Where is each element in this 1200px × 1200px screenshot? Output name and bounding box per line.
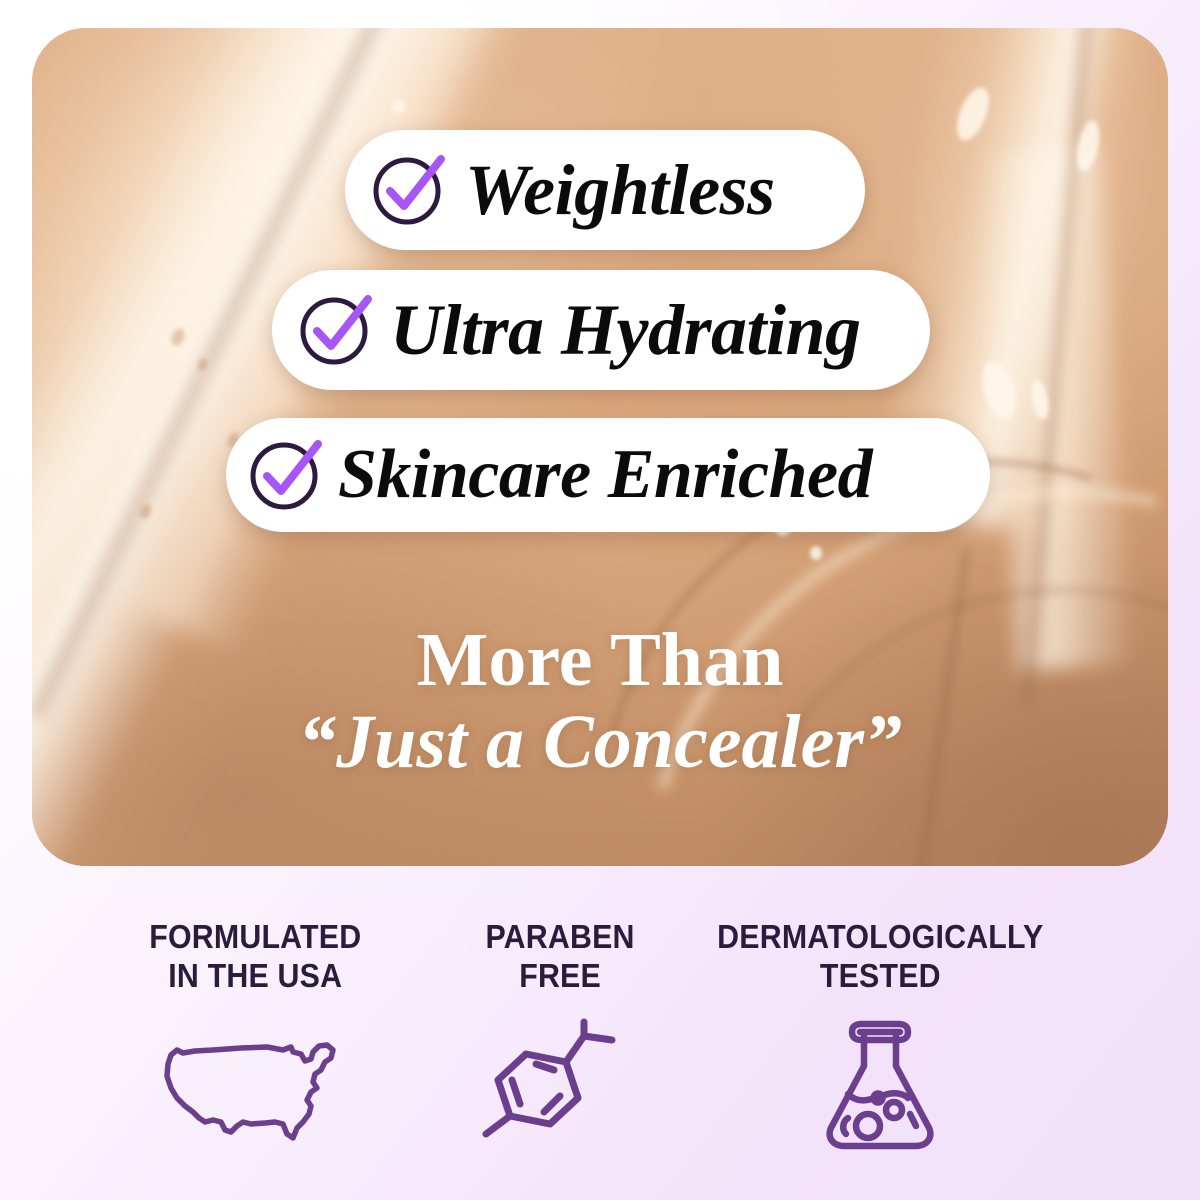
usa-map-icon: [155, 1026, 355, 1159]
claim-badge-paraben-free: PARABEN FREE: [450, 918, 670, 1155]
claim-badge-text: FORMULATED IN THE USA: [149, 918, 361, 996]
lab-flask-icon: [812, 1018, 948, 1163]
claim-badge-line-1: DERMATOLOGICALLY: [717, 918, 1043, 955]
claim-badge-line-2: IN THE USA: [168, 957, 342, 994]
claim-badge-text: PARABEN FREE: [485, 918, 634, 996]
texture-highlight-speck: [810, 546, 822, 560]
claim-badge-formulated-in-usa: FORMULATED IN THE USA: [60, 918, 450, 1159]
benzene-molecule-icon: [480, 1018, 640, 1155]
claim-badge-line-1: PARABEN: [485, 918, 634, 955]
claim-badge-line-2: FREE: [519, 957, 601, 994]
check-circle-icon: [298, 291, 376, 369]
product-feature-graphic: Weightless Ultra Hydrating Skincare Enri…: [0, 0, 1200, 1200]
claim-badge-line-1: FORMULATED: [149, 918, 361, 955]
benefit-pill-weightless[interactable]: Weightless: [345, 130, 865, 250]
benefit-pill-label: Ultra Hydrating: [390, 294, 861, 366]
claim-badge-row: FORMULATED IN THE USA PARABEN FREE: [60, 918, 1140, 1163]
benefit-pill-label: Weightless: [465, 154, 775, 226]
check-circle-icon: [371, 151, 449, 229]
claim-badge-text: DERMATOLOGICALLY TESTED: [717, 918, 1043, 996]
check-circle-icon: [248, 436, 326, 514]
benefit-pill-ultra-hydrating[interactable]: Ultra Hydrating: [272, 270, 930, 390]
texture-highlight-speck: [392, 100, 405, 113]
claim-badge-line-2: TESTED: [820, 957, 941, 994]
foundation-texture-panel: Weightless Ultra Hydrating Skincare Enri…: [32, 28, 1168, 866]
claim-badge-dermatologically-tested: DERMATOLOGICALLY TESTED: [670, 918, 1090, 1163]
benefit-pill-label: Skincare Enriched: [338, 440, 872, 510]
benefit-pill-skincare-enriched[interactable]: Skincare Enriched: [226, 418, 990, 532]
